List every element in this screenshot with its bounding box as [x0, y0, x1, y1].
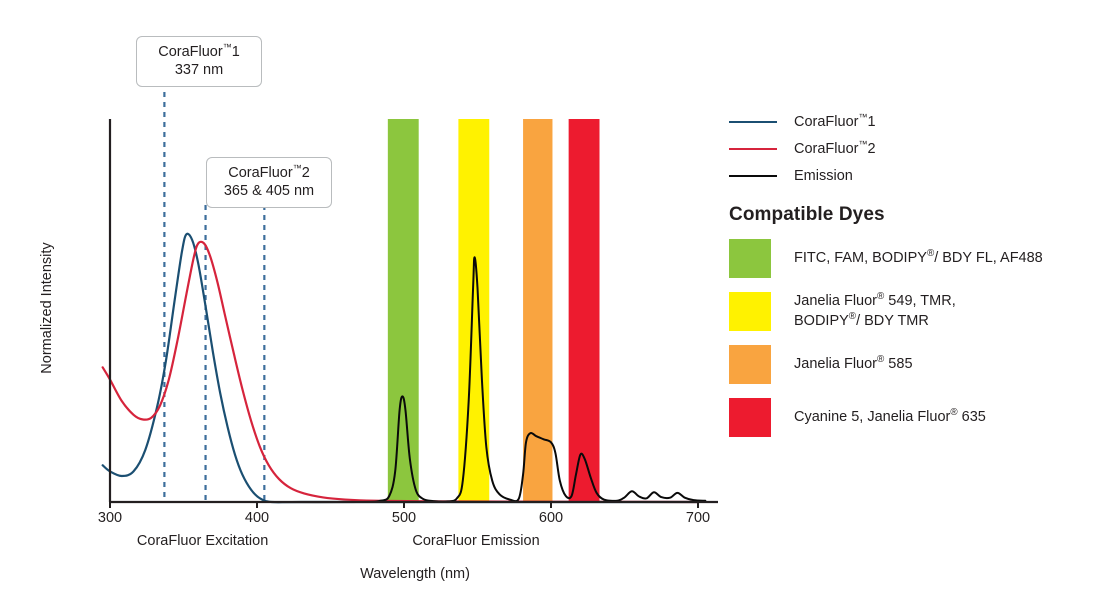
callout-corafluor1-line1: CoraFluor™1	[147, 43, 251, 61]
legend-entry-label: Emission	[794, 168, 853, 184]
orange-band	[523, 119, 552, 502]
dye-label-line: Janelia Fluor® 549, TMR,	[794, 292, 956, 312]
legend-line-swatch-icon	[729, 175, 777, 177]
legend-line-entries: CoraFluor™1CoraFluor™2Emission	[729, 108, 1104, 189]
legend-line-swatch-icon	[729, 121, 777, 123]
x-tick-label-500: 500	[374, 510, 434, 526]
dye-entry-3: Cyanine 5, Janelia Fluor® 635	[729, 398, 1104, 437]
x-tick-label-600: 600	[521, 510, 581, 526]
dye-entry-label: FITC, FAM, BODIPY®/ BDY FL, AF488	[794, 249, 1043, 269]
dye-entry-label: Janelia Fluor® 585	[794, 355, 913, 375]
spectra-figure: CoraFluor™1 337 nm CoraFluor™2 365 & 405…	[0, 0, 1110, 612]
dye-color-swatch	[729, 292, 771, 331]
dye-entry-0: FITC, FAM, BODIPY®/ BDY FL, AF488	[729, 239, 1104, 278]
yellow-band	[458, 119, 489, 502]
x-tick-label-700: 700	[668, 510, 728, 526]
callout-corafluor2: CoraFluor™2 365 & 405 nm	[206, 157, 332, 208]
dye-entry-label: Cyanine 5, Janelia Fluor® 635	[794, 408, 986, 428]
x-tick-label-300: 300	[80, 510, 140, 526]
dye-label-line: FITC, FAM, BODIPY®/ BDY FL, AF488	[794, 249, 1043, 269]
dye-label-line: Cyanine 5, Janelia Fluor® 635	[794, 408, 986, 428]
red-band	[569, 119, 600, 502]
legend-entry-0: CoraFluor™1	[729, 108, 1104, 135]
x-axis-title: Wavelength (nm)	[0, 566, 830, 582]
callout-corafluor2-line2: 365 & 405 nm	[217, 182, 321, 200]
compatible-dyes-heading: Compatible Dyes	[729, 204, 1104, 226]
green-band	[388, 119, 419, 502]
x-tick-label-400: 400	[227, 510, 287, 526]
legend: CoraFluor™1CoraFluor™2Emission Compatibl…	[729, 108, 1104, 451]
compatible-dyes-list: FITC, FAM, BODIPY®/ BDY FL, AF488Janelia…	[729, 239, 1104, 437]
emission-bands	[388, 119, 600, 502]
x-sublabel-0: CoraFluor Excitation	[93, 533, 313, 549]
dye-color-swatch	[729, 345, 771, 384]
dye-label-line: BODIPY®/ BDY TMR	[794, 312, 956, 332]
callout-corafluor1: CoraFluor™1 337 nm	[136, 36, 262, 87]
legend-entry-2: Emission	[729, 162, 1104, 189]
legend-line-swatch-icon	[729, 148, 777, 150]
excitation-marker-lines	[164, 92, 264, 502]
dye-label-line: Janelia Fluor® 585	[794, 355, 913, 375]
y-axis-title: Normalized Intensity	[39, 228, 55, 388]
callout-corafluor2-line1: CoraFluor™2	[217, 164, 321, 182]
callout-corafluor1-line2: 337 nm	[147, 61, 251, 79]
legend-entry-label: CoraFluor™2	[794, 141, 876, 157]
dye-entry-1: Janelia Fluor® 549, TMR,BODIPY®/ BDY TMR	[729, 292, 1104, 331]
legend-entry-1: CoraFluor™2	[729, 135, 1104, 162]
dye-color-swatch	[729, 398, 771, 437]
dye-color-swatch	[729, 239, 771, 278]
dye-entry-label: Janelia Fluor® 549, TMR,BODIPY®/ BDY TMR	[794, 292, 956, 331]
dye-entry-2: Janelia Fluor® 585	[729, 345, 1104, 384]
legend-entry-label: CoraFluor™1	[794, 114, 876, 130]
x-sublabel-1: CoraFluor Emission	[366, 533, 586, 549]
